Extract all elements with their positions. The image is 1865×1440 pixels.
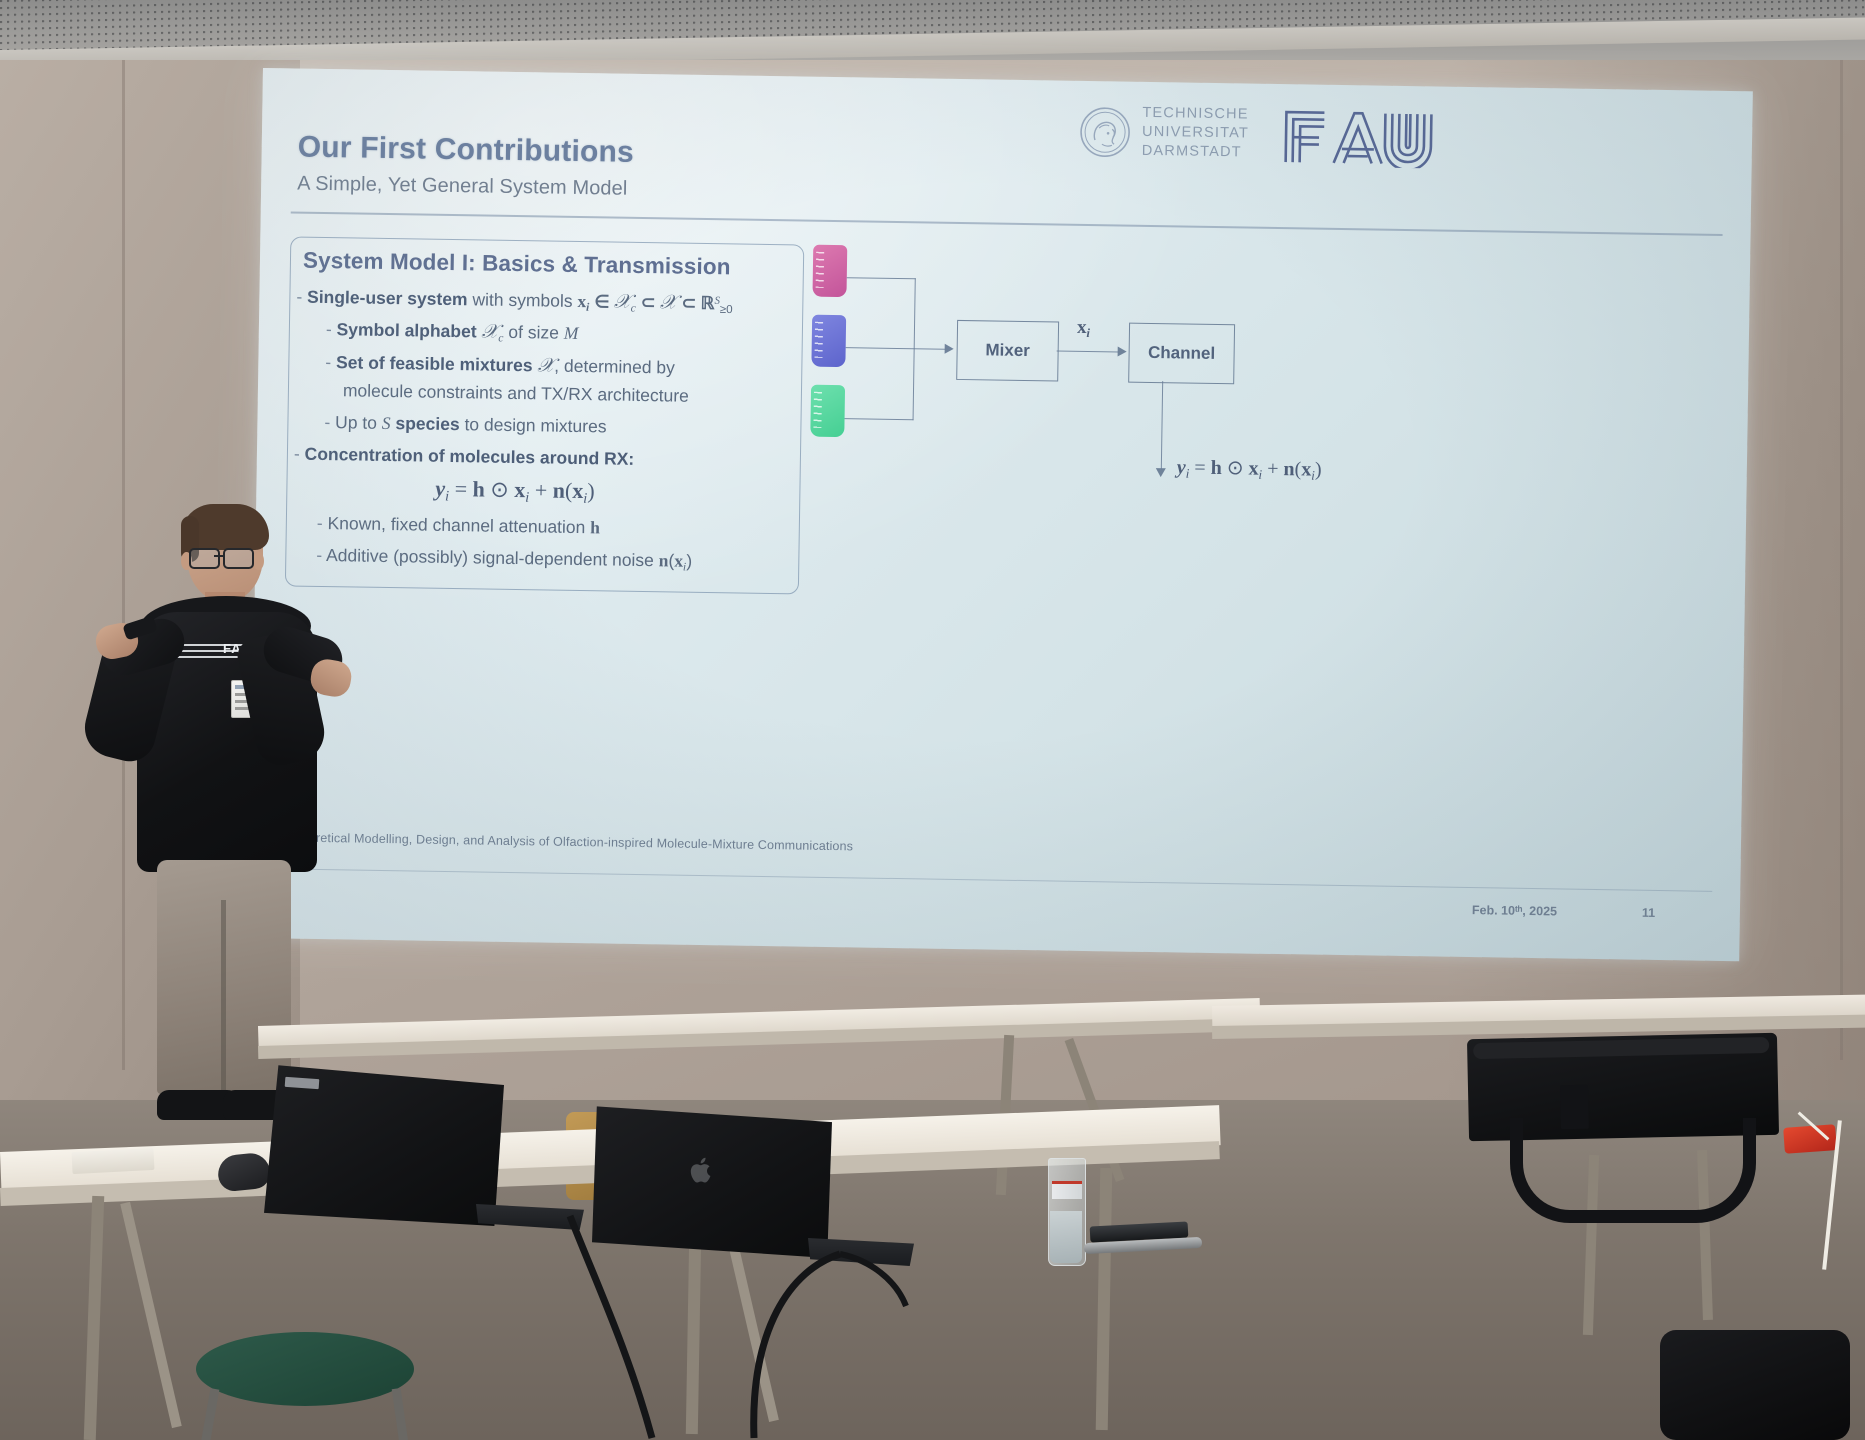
wire-channel-out-v [1161, 381, 1164, 469]
bullet-single-user: - Single-user system with symbols xi ∈ 𝒳… [296, 286, 733, 318]
arrow-into-channel [1118, 346, 1127, 356]
green-chair-seat [196, 1332, 414, 1406]
bag-top-zip [1473, 1037, 1769, 1059]
wire-mixer-to-channel [1057, 351, 1119, 353]
vial-magenta [812, 245, 847, 298]
diagram-output-equation: yi = h ⊙ xi + n(xi) [1177, 454, 1322, 483]
channel-box: Channel [1128, 323, 1235, 385]
mixer-label: Mixer [985, 340, 1030, 361]
glasses-bridge-icon [214, 555, 224, 557]
glasses-lens-right-icon [223, 548, 254, 569]
wire-magenta-h [847, 277, 916, 279]
tud-line-2: UNIVERSITAT [1142, 123, 1249, 144]
wire-green-h [845, 418, 914, 420]
slide-title: Our First Contributions [297, 131, 634, 170]
bullet-feasible-mixtures: - Set of feasible mixtures 𝒳, determined… [325, 351, 675, 380]
arrow-into-mixer [945, 344, 954, 354]
floor-bag [1660, 1330, 1850, 1440]
vial-green [810, 385, 845, 438]
projection-screen: Our First Contributions A Simple, Yet Ge… [249, 68, 1752, 961]
bullet-concentration: - Concentration of molecules around RX: [294, 444, 635, 470]
footer-divider [280, 868, 1712, 892]
presentation-room-photo: Our First Contributions A Simple, Yet Ge… [0, 0, 1865, 1440]
bullet-up-to-s-species: - Up to S species to design mixtures [324, 412, 606, 437]
channel-label: Channel [1148, 343, 1215, 364]
bag-shoulder-strap [1510, 1118, 1756, 1223]
bullet-feasible-mixtures-line2: molecule constraints and TX/RX architect… [343, 380, 689, 406]
slide-date: Feb. 10ᵗʰ, 2025 [1472, 903, 1557, 918]
athena-head-seal-icon [1079, 106, 1132, 159]
papers [71, 1148, 154, 1174]
water-glass [1048, 1158, 1086, 1266]
model-equation: yi = h ⊙ xi + n(xi) [435, 476, 595, 508]
tu-darmstadt-wordmark: TECHNISCHE UNIVERSITAT DARMSTADT [1142, 104, 1250, 163]
tud-line-3: DARMSTADT [1142, 142, 1249, 163]
tu-darmstadt-logo: TECHNISCHE UNIVERSITAT DARMSTADT [1079, 103, 1250, 163]
tud-line-1: TECHNISCHE [1142, 104, 1249, 125]
apple-logo-icon [690, 1156, 714, 1184]
edge-label-xi: xi [1077, 317, 1090, 341]
fau-wordmark-icon [1280, 104, 1449, 169]
wall-seam-right [1840, 60, 1843, 1060]
water-fill [1050, 1211, 1082, 1263]
fau-logo [1280, 104, 1449, 174]
glass-label [1052, 1181, 1082, 1199]
wire-blue-to-mixer [846, 347, 946, 350]
desk-cables [540, 1210, 1100, 1440]
bullet-additive-noise: - Additive (possibly) signal-dependent n… [316, 545, 692, 575]
trouser-seam [221, 900, 226, 1094]
presenter-ear-right [253, 552, 264, 570]
slide-footer-text: Theoretical Modelling, Design, and Analy… [287, 830, 853, 853]
slide-subtitle: A Simple, Yet General System Model [297, 173, 628, 201]
slide-page-number: 11 [1642, 906, 1655, 920]
arrow-channel-output [1156, 468, 1166, 477]
mixer-box: Mixer [956, 320, 1059, 382]
system-model-heading: System Model I: Basics & Transmission [303, 248, 731, 281]
vial-blue [811, 315, 846, 368]
header-divider [291, 211, 1723, 235]
glasses-lens-left-icon [189, 548, 220, 569]
red-power-adapter [1783, 1124, 1837, 1154]
bullet-symbol-alphabet: - Symbol alphabet 𝒳c of size M [326, 318, 579, 347]
